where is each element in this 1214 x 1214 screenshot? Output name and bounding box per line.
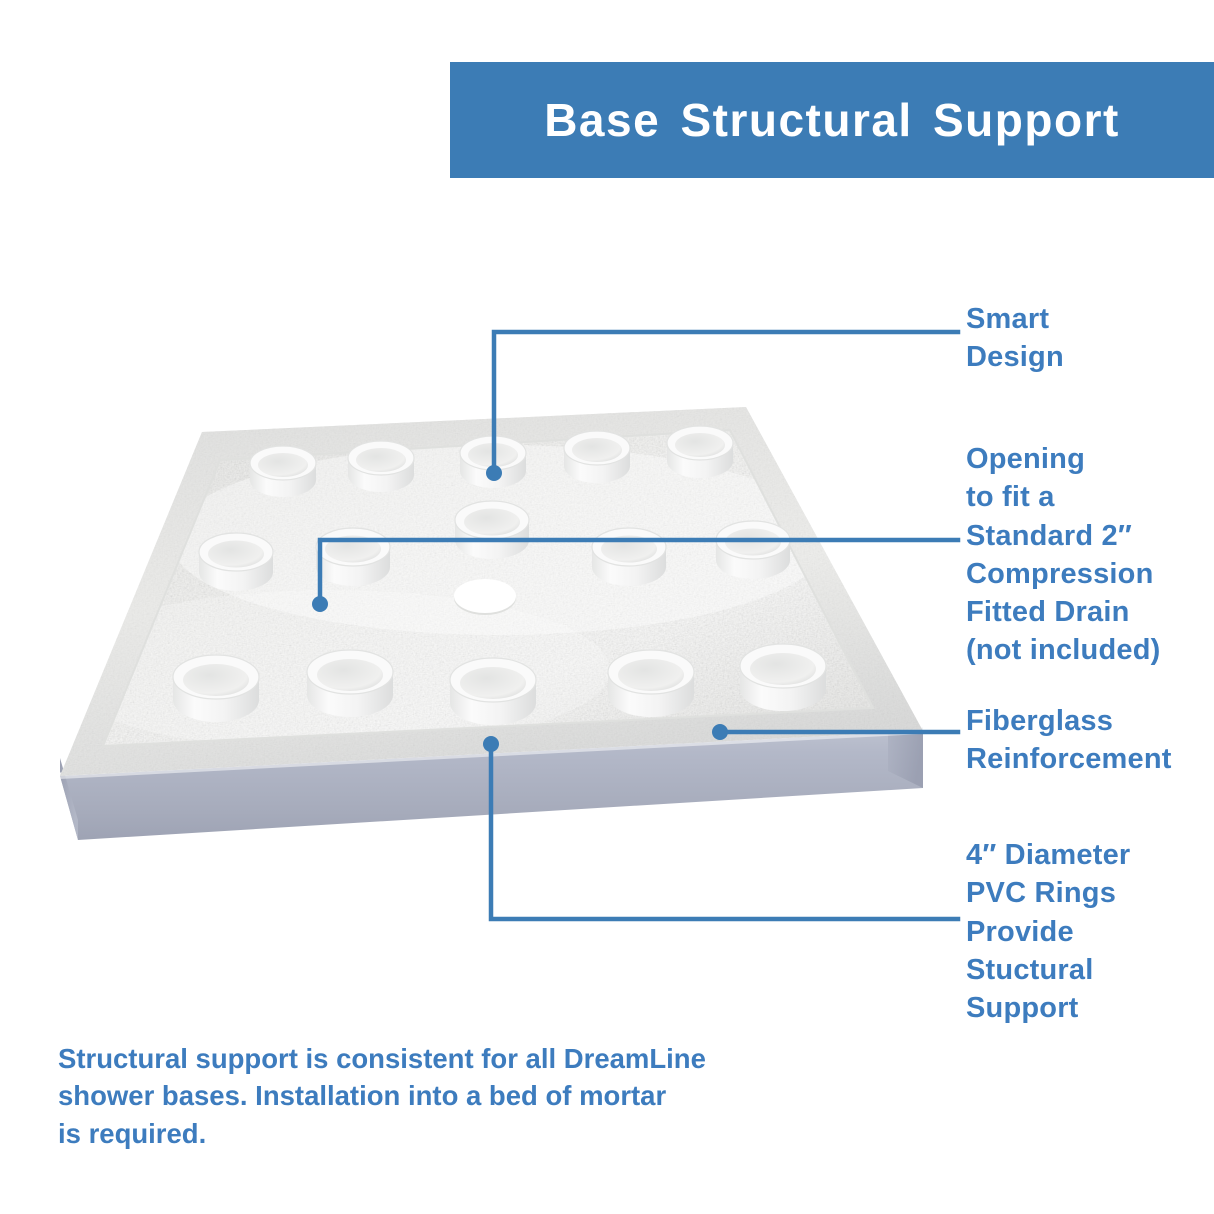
- callout-line-text: (not included): [966, 631, 1161, 669]
- shower-base-illustration: [30, 390, 950, 850]
- pvc-ring: [450, 658, 536, 725]
- pvc-ring: [250, 446, 316, 497]
- footer-caption: Structural support is consistent for all…: [58, 1040, 818, 1152]
- drain-opening: [454, 579, 516, 615]
- pvc-ring: [592, 528, 666, 586]
- pvc-ring: [667, 426, 733, 478]
- callout-label-fiberglass: Fiberglass Reinforcement: [966, 702, 1172, 779]
- callout-line-text: Fiberglass: [966, 702, 1172, 740]
- pvc-ring: [460, 436, 526, 488]
- pvc-ring: [740, 644, 826, 711]
- callout-label-pvc-rings: 4″ Diameter PVC Rings Provide Stuctural …: [966, 836, 1130, 1027]
- pvc-ring: [307, 650, 393, 717]
- callout-line-text: Reinforcement: [966, 740, 1172, 778]
- pvc-ring: [564, 431, 630, 483]
- callout-line-text: Stuctural: [966, 951, 1130, 989]
- pvc-ring: [316, 528, 390, 586]
- infographic-page: Base Structural Support: [0, 0, 1214, 1214]
- callout-line-text: to fit a: [966, 478, 1161, 516]
- pvc-ring: [608, 650, 694, 717]
- callout-line-text: Standard 2″: [966, 517, 1161, 555]
- page-title: Base Structural Support: [544, 93, 1120, 147]
- pvc-ring: [455, 501, 529, 559]
- callout-line-text: 4″ Diameter: [966, 836, 1130, 874]
- header-banner: Base Structural Support: [450, 62, 1214, 178]
- callout-line-text: Smart: [966, 300, 1064, 338]
- pvc-ring: [199, 533, 273, 591]
- callout-line-text: Compression: [966, 555, 1161, 593]
- pvc-ring: [348, 441, 414, 492]
- callout-line-text: Design: [966, 338, 1064, 376]
- callout-line-text: Fitted Drain: [966, 593, 1161, 631]
- pvc-ring: [716, 521, 790, 579]
- callout-line-text: Provide: [966, 913, 1130, 951]
- footer-line-text: shower bases. Installation into a bed of…: [58, 1077, 818, 1114]
- callout-line-text: Support: [966, 989, 1130, 1027]
- footer-line-text: is required.: [58, 1115, 818, 1152]
- footer-line-text: Structural support is consistent for all…: [58, 1040, 818, 1077]
- callout-line-text: Opening: [966, 440, 1161, 478]
- callout-label-smart-design: Smart Design: [966, 300, 1064, 377]
- pvc-ring: [173, 655, 259, 722]
- callout-label-drain-opening: Opening to fit a Standard 2″ Compression…: [966, 440, 1161, 670]
- callout-line-text: PVC Rings: [966, 874, 1130, 912]
